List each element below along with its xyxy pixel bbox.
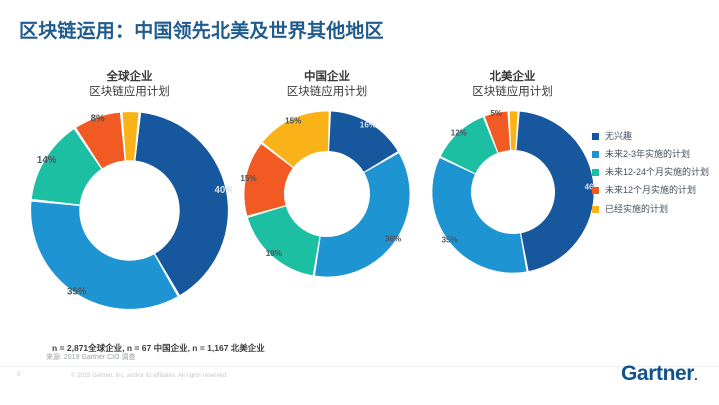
donut-north-america-svg: 46%35%12%5%2% xyxy=(429,108,597,276)
donut-slice[interactable] xyxy=(248,207,320,276)
legend-item[interactable]: 未来2-3年实施的计划 xyxy=(592,148,714,160)
slice-value-label: 12% xyxy=(450,129,466,138)
chart-china-subtitle: 区块链应用计划 xyxy=(232,85,422,100)
legend-swatch-icon xyxy=(592,151,599,158)
legend-item[interactable]: 未来12个月实施的计划 xyxy=(592,184,714,196)
gartner-logo-text: Gartner xyxy=(621,362,694,385)
slice-value-label: 5% xyxy=(490,109,502,118)
chart-legend: 无兴趣未来2-3年实施的计划未来12-24个月实施的计划未来12个月实施的计划已… xyxy=(592,130,714,221)
slice-value-label: 16% xyxy=(360,121,377,130)
chart-china-title: 中国企业 xyxy=(232,70,422,85)
slice-value-label: 35% xyxy=(67,287,87,298)
donut-china-svg: 16%36%18%15%15% xyxy=(241,108,413,280)
legend-item-label: 未来2-3年实施的计划 xyxy=(605,148,690,160)
chart-global-heading: 全球企业 区块链应用计划 xyxy=(22,70,237,100)
legend-swatch-icon xyxy=(592,169,599,176)
chart-china: 中国企业 区块链应用计划 16%36%18%15%15% xyxy=(232,70,422,280)
slice-value-label: 8% xyxy=(91,114,105,125)
chart-north-america-heading: 北美企业 区块链应用计划 xyxy=(420,70,605,100)
slice-value-label: 14% xyxy=(37,155,57,166)
donut-chart-china: 16%36%18%15%15% xyxy=(241,108,413,280)
chart-north-america-subtitle: 区块链应用计划 xyxy=(420,85,605,100)
legend-item-label: 未来12个月实施的计划 xyxy=(605,184,696,196)
chart-global-title: 全球企业 xyxy=(22,70,237,85)
donut-slice[interactable] xyxy=(432,159,526,273)
donut-slice[interactable] xyxy=(31,202,177,309)
legend-swatch-icon xyxy=(592,206,599,213)
donut-slice[interactable] xyxy=(123,112,139,160)
legend-item-label: 未来12-24个月实施的计划 xyxy=(605,166,709,178)
donut-chart-global: 40%35%14%8%3% xyxy=(27,108,232,313)
donut-slice[interactable] xyxy=(315,154,410,277)
slice-value-label: 36% xyxy=(385,235,402,244)
legend-swatch-icon xyxy=(592,133,599,140)
legend-item-label: 无兴趣 xyxy=(605,130,632,142)
chart-global: 全球企业 区块链应用计划 40%35%14%8%3% xyxy=(22,70,237,313)
donut-slice[interactable] xyxy=(509,112,517,151)
source-note: 来源: 2019 Gartner CIO 调查 xyxy=(46,352,135,362)
donut-global-svg: 40%35%14%8%3% xyxy=(27,108,232,313)
legend-swatch-icon xyxy=(592,187,599,194)
chart-china-heading: 中国企业 区块链应用计划 xyxy=(232,70,422,100)
slice-value-label: 40% xyxy=(215,185,232,196)
legend-item[interactable]: 无兴趣 xyxy=(592,130,714,142)
gartner-logo-dot: . xyxy=(694,368,697,383)
gartner-logo: Gartner. xyxy=(621,362,697,386)
chart-north-america: 北美企业 区块链应用计划 46%35%12%5%2% xyxy=(420,70,605,276)
slide-canvas: 区块链运用：中国领先北美及世界其他地区 全球企业 区块链应用计划 40%35%1… xyxy=(0,0,719,405)
donut-slice[interactable] xyxy=(516,112,593,271)
footer-divider xyxy=(0,366,719,367)
donut-chart-north-america: 46%35%12%5%2% xyxy=(429,108,597,276)
page-number: 5 xyxy=(17,372,20,378)
slice-value-label: 15% xyxy=(241,174,257,183)
legend-item-label: 已经实施的计划 xyxy=(605,203,668,215)
chart-global-subtitle: 区块链应用计划 xyxy=(22,85,237,100)
legend-item[interactable]: 已经实施的计划 xyxy=(592,203,714,215)
chart-north-america-title: 北美企业 xyxy=(420,70,605,85)
copyright-note: © 2019 Gartner, Inc. and/or its affiliat… xyxy=(71,372,271,381)
slice-value-label: 18% xyxy=(266,249,283,258)
legend-item[interactable]: 未来12-24个月实施的计划 xyxy=(592,166,714,178)
slice-value-label: 35% xyxy=(441,236,457,245)
page-title: 区块链运用：中国领先北美及世界其他地区 xyxy=(19,16,384,43)
slice-value-label: 15% xyxy=(285,117,302,126)
